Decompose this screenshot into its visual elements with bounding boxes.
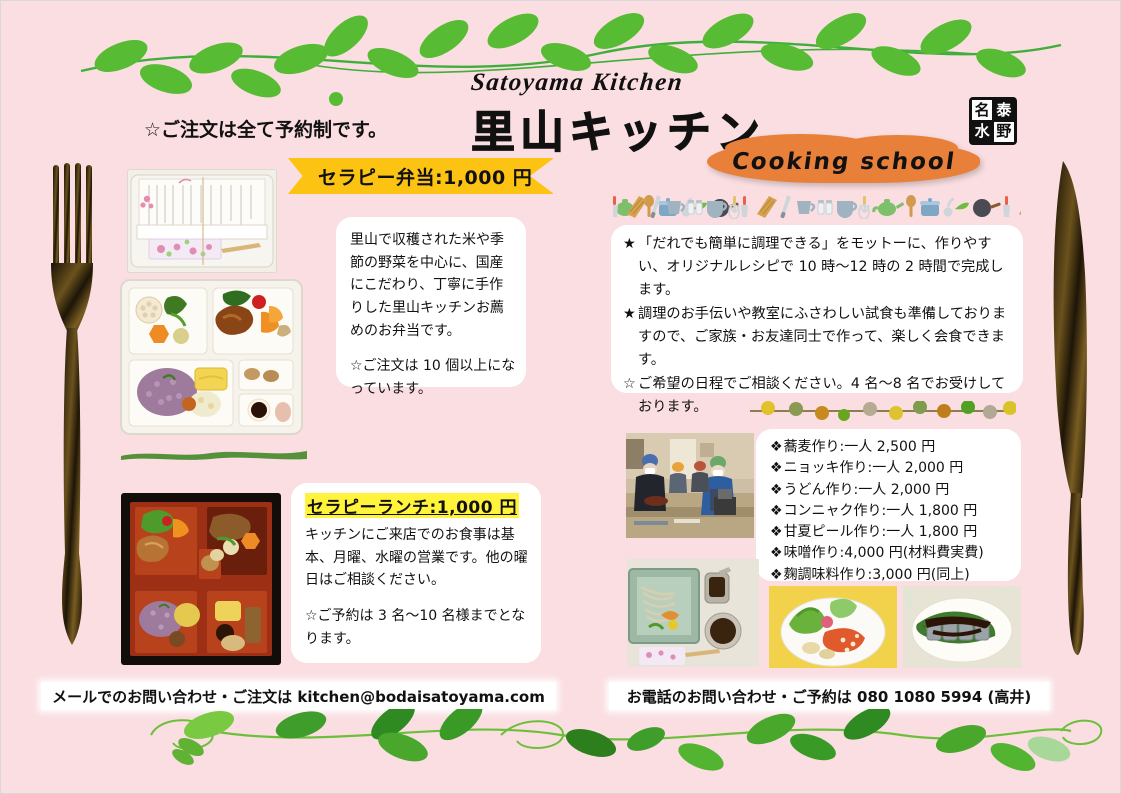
diamond-bullet-icon: ❖ [770, 460, 783, 476]
menu-item: ❖麹調味料作り:3,000 円(同上) [770, 565, 1015, 586]
reservation-note: ☆ご注文は全て予約制です。 [144, 115, 387, 146]
diamond-bullet-icon: ❖ [770, 524, 783, 540]
diamond-bullet-icon: ❖ [770, 545, 783, 561]
utensil-icon-strip [613, 193, 1021, 219]
contact-email-bar[interactable]: メールでのお問い合わせ・ご注文は kitchen@bodaisatoyama.c… [41, 682, 556, 710]
cooking-menu-list: ❖蕎麦作り:一人 2,500 円 ❖ニョッキ作り:一人 2,000 円 ❖うどん… [756, 429, 1021, 586]
bento-price-label: セラピー弁当:1,000 円 [288, 163, 532, 190]
bento-description-text: 里山で収穫された米や季節の野菜を中心に、国産にこだわり、丁寧に手作りした里山キッ… [336, 217, 526, 342]
lunch-reservation-note: ☆ご予約は 3 名〜10 名様までとなります。 [291, 605, 541, 650]
seal-stamp-logo: 名 泰 水 野 [969, 97, 1017, 145]
cooking-menu-price-box: ❖蕎麦作り:一人 2,500 円 ❖ニョッキ作り:一人 2,000 円 ❖うどん… [756, 429, 1021, 581]
bento-price-banner: セラピー弁当:1,000 円 [288, 158, 553, 194]
bento-description-box: 里山で収穫された米や季節の野菜を中心に、国産にこだわり、丁寧に手作りした里山キッ… [336, 217, 526, 387]
menu-item-label: うどん作り:一人 2,000 円 [784, 482, 950, 498]
contact-phone-text: お電話のお問い合わせ・ご予約は 080 1080 5994 (高井) [627, 686, 1031, 707]
menu-item-label: 味噌作り:4,000 円(材料費実費) [784, 545, 984, 561]
menu-item-label: 麹調味料作り:3,000 円(同上) [784, 567, 970, 583]
brush-stroke-divider [119, 447, 309, 461]
menu-item: ❖ニョッキ作り:一人 2,000 円 [770, 458, 1015, 479]
diamond-bullet-icon: ❖ [770, 503, 783, 519]
bullet-mark-icon: ★ [623, 233, 638, 302]
lunch-info-box: セラピーランチ:1,000 円 キッチンにご来店でのお食事は基本、月曜、水曜の営… [291, 483, 541, 663]
lunch-description-text: キッチンにご来店でのお食事は基本、月曜、水曜の営業です。他の曜日はご相談ください… [291, 524, 541, 592]
school-bullet-text: 「だれでも簡単に調理できる」をモットーに、作りやすい、オリジナルレシピで 10 … [638, 233, 1013, 302]
photo-soba-dish [627, 559, 759, 667]
stamp-char-1: 名 [972, 100, 992, 120]
diamond-bullet-icon: ❖ [770, 482, 783, 498]
contact-phone-bar[interactable]: お電話のお問い合わせ・ご予約は 080 1080 5994 (高井) [609, 682, 1049, 710]
bento-order-note: ☆ご注文は 10 個以上になっています。 [336, 355, 526, 400]
vine-border-bottom [1, 709, 1121, 793]
photo-lacquer-bento [121, 493, 281, 665]
knife-illustration [1049, 153, 1095, 665]
menu-item: ❖コンニャク作り:一人 1,800 円 [770, 501, 1015, 522]
menu-item-label: 蕎麦作り:一人 2,500 円 [784, 439, 936, 455]
photo-cooking-class [626, 433, 754, 538]
banner-notch [530, 158, 554, 194]
photo-salad-plate [769, 586, 897, 668]
school-bullet-text: 調理のお手伝いや教室にふさわしい試食も準備しておりますので、ご家族・お友達同士で… [638, 303, 1013, 372]
diamond-bullet-icon: ❖ [770, 439, 783, 455]
contact-email-text: メールでのお問い合わせ・ご注文は kitchen@bodaisatoyama.c… [52, 686, 545, 707]
bullet-mark-icon: ☆ [623, 373, 638, 419]
school-bullet: ★ 「だれでも簡単に調理できる」をモットーに、作りやすい、オリジナルレシピで 1… [623, 233, 1013, 302]
fork-illustration [41, 153, 103, 665]
photo-konnyaku-plate [903, 586, 1021, 668]
menu-item: ❖甘夏ピール作り:一人 1,800 円 [770, 522, 1015, 543]
flyer-canvas: ☆ご注文は全て予約制です。 Satoyama Kitchen 里山キッチン 名 … [0, 0, 1121, 794]
menu-item-label: ニョッキ作り:一人 2,000 円 [784, 460, 964, 476]
bullet-mark-icon: ★ [623, 303, 638, 372]
diamond-bullet-icon: ❖ [770, 567, 783, 583]
menu-item-label: コンニャク作り:一人 1,800 円 [784, 503, 978, 519]
cooking-school-label: Cooking school [730, 149, 957, 175]
photo-wrapped-bento [127, 169, 277, 273]
bead-divider [746, 401, 1016, 421]
school-bullet: ★ 調理のお手伝いや教室にふさわしい試食も準備しておりますので、ご家族・お友達同… [623, 303, 1013, 372]
menu-item: ❖味噌作り:4,000 円(材料費実費) [770, 543, 1015, 564]
cooking-school-description-box: ★ 「だれでも簡単に調理できる」をモットーに、作りやすい、オリジナルレシピで 1… [611, 225, 1023, 393]
stamp-char-2: 泰 [994, 100, 1014, 120]
menu-item: ❖うどん作り:一人 2,000 円 [770, 480, 1015, 501]
stamp-char-4: 野 [994, 122, 1014, 142]
menu-item: ❖蕎麦作り:一人 2,500 円 [770, 437, 1015, 458]
lunch-price-title: セラピーランチ:1,000 円 [305, 493, 519, 518]
stamp-char-3: 水 [972, 122, 992, 142]
brand-name-english: Satoyama Kitchen [470, 69, 685, 97]
photo-therapy-bento [119, 278, 304, 436]
menu-item-label: 甘夏ピール作り:一人 1,800 円 [784, 524, 978, 540]
cooking-school-badge: Cooking school [707, 141, 980, 183]
